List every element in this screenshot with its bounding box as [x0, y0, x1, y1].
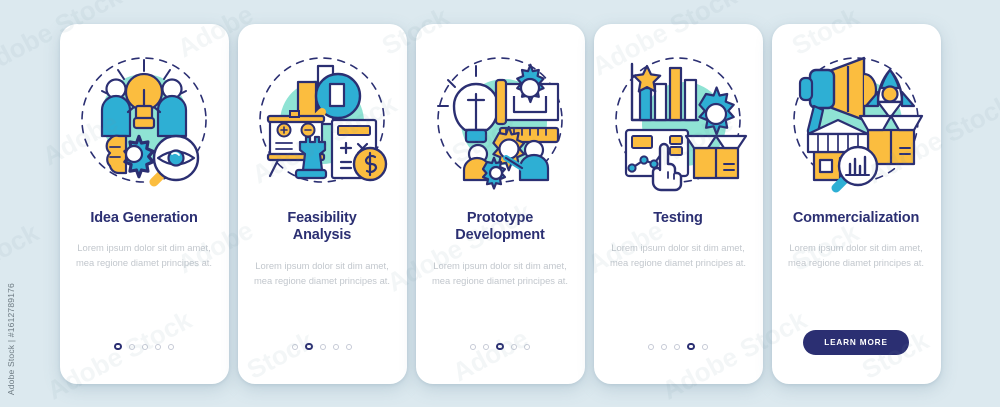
screen-title: Feasibility Analysis [287, 210, 356, 245]
screen-card-feasibility-analysis: Feasibility Analysis Lorem ipsum dolor s… [238, 24, 407, 384]
pager-dot-0[interactable] [114, 343, 122, 351]
pager-dot-3[interactable] [333, 344, 339, 350]
screen-card-testing: Testing Lorem ipsum dolor sit dim amet, … [594, 24, 763, 384]
pager-dot-0[interactable] [470, 344, 476, 350]
pager-dot-4[interactable] [346, 344, 352, 350]
pager-dot-1[interactable] [661, 344, 667, 350]
bar-chart-icon [632, 64, 698, 120]
pager-dot-4[interactable] [168, 344, 174, 350]
pager-dot-3[interactable] [687, 343, 695, 351]
screen-body-text: Lorem ipsum dolor sit dim amet, mea regi… [251, 258, 393, 288]
pager-dot-4[interactable] [702, 344, 708, 350]
screen-body-text: Lorem ipsum dolor sit dim amet, mea regi… [73, 240, 215, 270]
pager-dot-0[interactable] [292, 344, 298, 350]
pager-dot-2[interactable] [674, 344, 680, 350]
eye-magnifier-icon [154, 136, 198, 182]
screen-title: Idea Generation [90, 210, 197, 228]
pager-dot-1[interactable] [129, 344, 135, 350]
brain-gear-icon [107, 135, 153, 176]
pager-dots[interactable] [292, 342, 352, 352]
pager-dot-1[interactable] [305, 343, 313, 351]
pager-dot-2[interactable] [320, 344, 326, 350]
screen-card-commercialization: Commercialization Lorem ipsum dolor sit … [772, 24, 941, 384]
dollar-coin-icon [354, 148, 386, 180]
pager-dot-2[interactable] [142, 344, 148, 350]
screen-title: Commercialization [793, 210, 919, 228]
pager-dots[interactable] [648, 342, 708, 352]
gear-icon [517, 64, 543, 101]
onboarding-screens-row: Idea Generation Lorem ipsum dolor sit di… [0, 0, 1000, 407]
pager-dot-3[interactable] [511, 344, 517, 350]
screen-card-prototype-development: Prototype Development Lorem ipsum dolor … [416, 24, 585, 384]
pager-dots[interactable] [114, 342, 174, 352]
testing-illustration [602, 44, 754, 196]
pager-dot-2[interactable] [496, 343, 504, 351]
prototype-development-illustration [424, 44, 576, 196]
feasibility-analysis-illustration [246, 44, 398, 196]
screen-title: Testing [653, 210, 702, 228]
screen-body-text: Lorem ipsum dolor sit dim amet, mea regi… [607, 240, 749, 270]
commercialization-illustration [780, 44, 932, 196]
screen-body-text: Lorem ipsum dolor sit dim amet, mea regi… [785, 240, 927, 270]
pager-dot-3[interactable] [155, 344, 161, 350]
pager-dot-0[interactable] [648, 344, 654, 350]
idea-generation-illustration [68, 44, 220, 196]
pager-dots[interactable] [470, 342, 530, 352]
pager-dot-1[interactable] [483, 344, 489, 350]
screen-title: Prototype Development [455, 210, 544, 245]
pager-dot-4[interactable] [524, 344, 530, 350]
learn-more-button[interactable]: LEARN MORE [803, 330, 909, 355]
screen-card-idea-generation: Idea Generation Lorem ipsum dolor sit di… [60, 24, 229, 384]
gear-small-icon [483, 157, 505, 188]
screen-body-text: Lorem ipsum dolor sit dim amet, mea regi… [429, 258, 571, 288]
